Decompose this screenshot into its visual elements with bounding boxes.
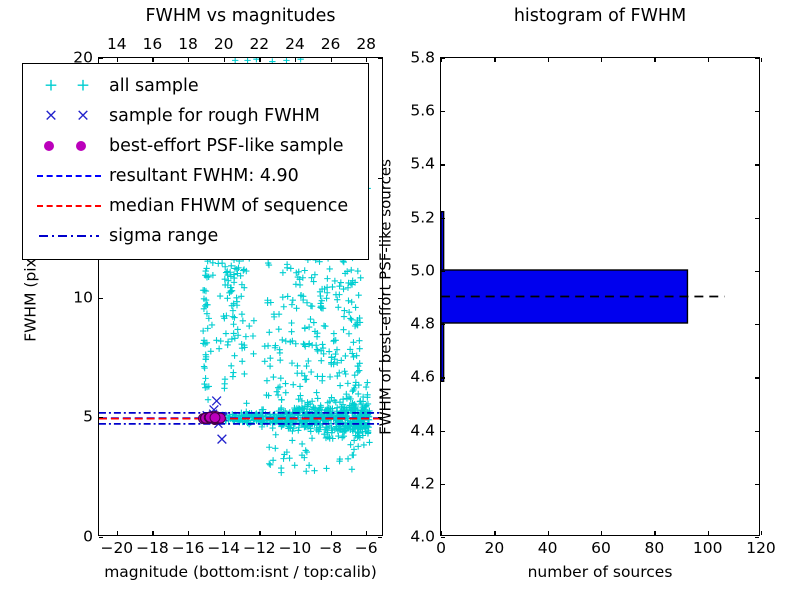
legend-item-3[interactable]: resultant FWHM: 4.90 <box>33 161 358 191</box>
histogram-ytick-label: 5.6 <box>410 103 435 119</box>
scatter-xtick <box>152 531 153 535</box>
histogram-ytick-right <box>755 431 759 432</box>
histogram-xtick <box>441 531 442 535</box>
histogram-ytick-right <box>755 164 759 165</box>
histogram-plot-axes[interactable]: histogram of FWHM 0204060801001204.04.24… <box>440 57 760 536</box>
scatter-x-axis-label: magnitude (bottom:isnt / top:calib) <box>104 565 377 581</box>
legend-label-2: best-effort PSF-like sample <box>105 136 344 156</box>
histogram-plot-title: histogram of FWHM <box>514 6 686 26</box>
scatter-ytick-label: 0 <box>83 529 93 545</box>
cross-marker: × <box>76 108 90 125</box>
scatter-top-xtick <box>366 58 367 62</box>
histogram-ytick-label: 5.0 <box>410 263 435 279</box>
scatter-ytick-label: 5 <box>83 410 93 426</box>
legend-item-5[interactable]: sigma range <box>33 221 358 251</box>
histogram-ytick <box>441 218 445 219</box>
histogram-ytick-label: 4.0 <box>410 529 435 545</box>
scatter-ytick <box>99 298 103 299</box>
histogram-ytick-right <box>755 484 759 485</box>
scatter-xtick <box>331 531 332 535</box>
scatter-top-xtick <box>117 58 118 62</box>
histogram-xtick-label: 60 <box>591 541 611 557</box>
histogram-xtick-label: 80 <box>644 541 664 557</box>
legend-item-0[interactable]: ++all sample <box>33 71 358 101</box>
scatter-xtick-label: −10 <box>279 541 312 557</box>
legend-handle-dashed-line <box>33 165 105 187</box>
histogram-xtick <box>601 531 602 535</box>
scatter-xtick <box>366 531 367 535</box>
legend-handle-dashed-line <box>33 195 105 217</box>
scatter-ytick-right <box>378 58 382 59</box>
legend-label-1: sample for rough FWHM <box>105 106 320 126</box>
legend-handle-plus-marker: ++ <box>33 75 105 97</box>
histogram-ytick <box>441 377 445 378</box>
histogram-xtick-top <box>654 58 655 62</box>
histogram-ytick-label: 4.6 <box>410 370 435 386</box>
legend-box[interactable]: ++all sample××sample for rough FWHMbest-… <box>22 63 369 260</box>
legend-label-0: all sample <box>105 76 199 96</box>
legend-item-1[interactable]: ××sample for rough FWHM <box>33 101 358 131</box>
scatter-top-xtick-label: 24 <box>285 37 305 53</box>
plus-marker: + <box>44 78 58 95</box>
scatter-xtick-label: −12 <box>243 541 276 557</box>
histogram-xtick-top <box>708 58 709 62</box>
scatter-top-xtick-label: 16 <box>143 37 163 53</box>
scatter-ytick <box>99 537 103 538</box>
histogram-x-axis-label: number of sources <box>528 565 673 581</box>
histogram-ytick-label: 4.2 <box>410 476 435 492</box>
histogram-ytick-right <box>755 324 759 325</box>
histogram-ytick-right <box>755 377 759 378</box>
cross-marker: × <box>44 108 58 125</box>
scatter-xtick-label: −20 <box>100 541 133 557</box>
scatter-top-xtick <box>152 58 153 62</box>
histogram-xtick-top <box>548 58 549 62</box>
scatter-xtick-label: −8 <box>319 541 342 557</box>
histogram-ytick-right <box>755 218 759 219</box>
scatter-top-xtick-label: 20 <box>214 37 234 53</box>
scatter-xtick <box>188 531 189 535</box>
scatter-top-xtick-label: 28 <box>356 37 376 53</box>
scatter-plot-title: FWHM vs magnitudes <box>145 6 335 26</box>
histogram-xtick-top <box>494 58 495 62</box>
histogram-y-axis-label: FWHM of best-effort PSF-like sources <box>379 159 394 435</box>
scatter-top-xtick <box>331 58 332 62</box>
histogram-ytick-right <box>755 58 759 59</box>
histogram-ytick <box>441 58 445 59</box>
histogram-xtick-top <box>601 58 602 62</box>
scatter-xtick-label: −14 <box>207 541 240 557</box>
histogram-ytick-label: 5.2 <box>410 210 435 226</box>
scatter-xtick <box>224 531 225 535</box>
scatter-top-xtick <box>295 58 296 62</box>
legend-item-4[interactable]: median FHWM of sequence <box>33 191 358 221</box>
scatter-top-xtick-label: 26 <box>321 37 341 53</box>
histogram-xtick <box>654 531 655 535</box>
histogram-ytick <box>441 537 445 538</box>
legend-handle-dashdot-line <box>33 225 105 247</box>
histogram-ytick-right <box>755 271 759 272</box>
histogram-xtick-label: 20 <box>484 541 504 557</box>
histogram-ytick-label: 5.4 <box>410 157 435 173</box>
scatter-top-xtick <box>188 58 189 62</box>
legend-item-2[interactable]: best-effort PSF-like sample <box>33 131 358 161</box>
dashed-line <box>37 175 101 177</box>
histogram-xtick-label: 0 <box>436 541 446 557</box>
scatter-xtick <box>259 531 260 535</box>
legend-handle-dot-marker <box>33 135 105 157</box>
scatter-xtick-label: −16 <box>172 541 205 557</box>
histogram-xtick <box>494 531 495 535</box>
histogram-ytick-right <box>755 111 759 112</box>
histogram-ytick <box>441 431 445 432</box>
histogram-ytick <box>441 271 445 272</box>
legend-label-4: median FHWM of sequence <box>105 196 348 216</box>
dashed-line <box>37 205 101 207</box>
histogram-xtick-label: 120 <box>746 541 776 557</box>
histogram-ytick <box>441 484 445 485</box>
scatter-top-xtick-label: 18 <box>178 37 198 53</box>
histogram-ytick <box>441 324 445 325</box>
histogram-ytick-label: 5.8 <box>410 50 435 66</box>
plus-marker: + <box>76 78 90 95</box>
scatter-ytick <box>99 417 103 418</box>
scatter-top-xtick-label: 14 <box>107 37 127 53</box>
scatter-xtick <box>295 531 296 535</box>
histogram-xtick <box>761 531 762 535</box>
scatter-xtick-label: −6 <box>355 541 378 557</box>
scatter-ytick <box>99 58 103 59</box>
histogram-xtick <box>708 531 709 535</box>
scatter-ytick-label: 10 <box>73 290 93 306</box>
histogram-xtick-top <box>761 58 762 62</box>
histogram-ytick-label: 4.4 <box>410 423 435 439</box>
scatter-top-xtick <box>224 58 225 62</box>
histogram-data-layer <box>441 58 759 535</box>
scatter-y-axis-label: FWHM (pix) <box>23 252 39 342</box>
histogram-xtick-label: 40 <box>538 541 558 557</box>
legend-label-5: sigma range <box>105 226 218 246</box>
figure-canvas: FWHM vs magnitudes −20−18−16−14−12−10−8−… <box>0 0 800 600</box>
scatter-xtick-label: −18 <box>136 541 169 557</box>
histogram-ytick-label: 4.8 <box>410 316 435 332</box>
dot-marker <box>44 141 54 151</box>
histogram-ytick-right <box>755 537 759 538</box>
histogram-ytick <box>441 111 445 112</box>
scatter-top-xtick-label: 22 <box>249 37 269 53</box>
histogram-xtick <box>548 531 549 535</box>
scatter-ytick-right <box>378 537 382 538</box>
dot-marker <box>76 141 86 151</box>
histogram-xtick-label: 100 <box>693 541 723 557</box>
scatter-xtick <box>117 531 118 535</box>
scatter-top-xtick <box>259 58 260 62</box>
legend-label-3: resultant FWHM: 4.90 <box>105 166 299 186</box>
legend-handle-cross-marker: ×× <box>33 105 105 127</box>
histogram-ytick <box>441 164 445 165</box>
